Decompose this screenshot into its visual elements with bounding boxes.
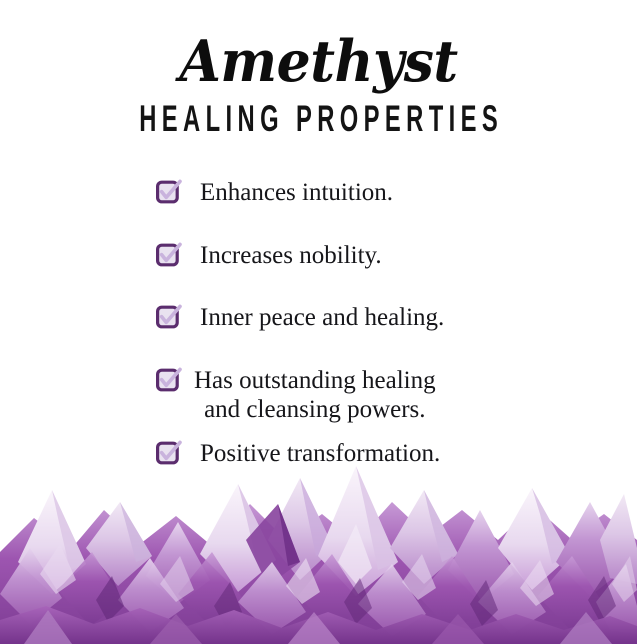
healing-properties-list: Enhances intuition. Increases nobility. … bbox=[0, 178, 637, 468]
amethyst-healing-properties-infographic: Amethyst HEALING PROPERTIES Enhances int… bbox=[0, 0, 637, 644]
list-item: Has outstanding healing and cleansing po… bbox=[0, 366, 637, 425]
list-item-label: Increases nobility. bbox=[182, 241, 382, 271]
page-subtitle: HEALING PROPERTIES bbox=[89, 87, 548, 136]
checkbox-checked-icon bbox=[156, 180, 182, 204]
checkbox-checked-icon bbox=[156, 305, 182, 329]
amethyst-crystal-cluster-photo bbox=[0, 444, 637, 644]
checkbox-checked-icon bbox=[156, 243, 182, 267]
page-title: Amethyst bbox=[19, 0, 618, 90]
header: Amethyst HEALING PROPERTIES bbox=[0, 0, 637, 134]
checkbox-checked-icon bbox=[156, 368, 182, 392]
list-item-label: Has outstanding healing and cleansing po… bbox=[182, 366, 436, 425]
list-item-label: Enhances intuition. bbox=[182, 178, 393, 208]
list-item: Inner peace and healing. bbox=[0, 303, 637, 333]
list-item: Enhances intuition. bbox=[0, 178, 637, 208]
list-item: Increases nobility. bbox=[0, 241, 637, 271]
list-item-label: Inner peace and healing. bbox=[182, 303, 444, 333]
